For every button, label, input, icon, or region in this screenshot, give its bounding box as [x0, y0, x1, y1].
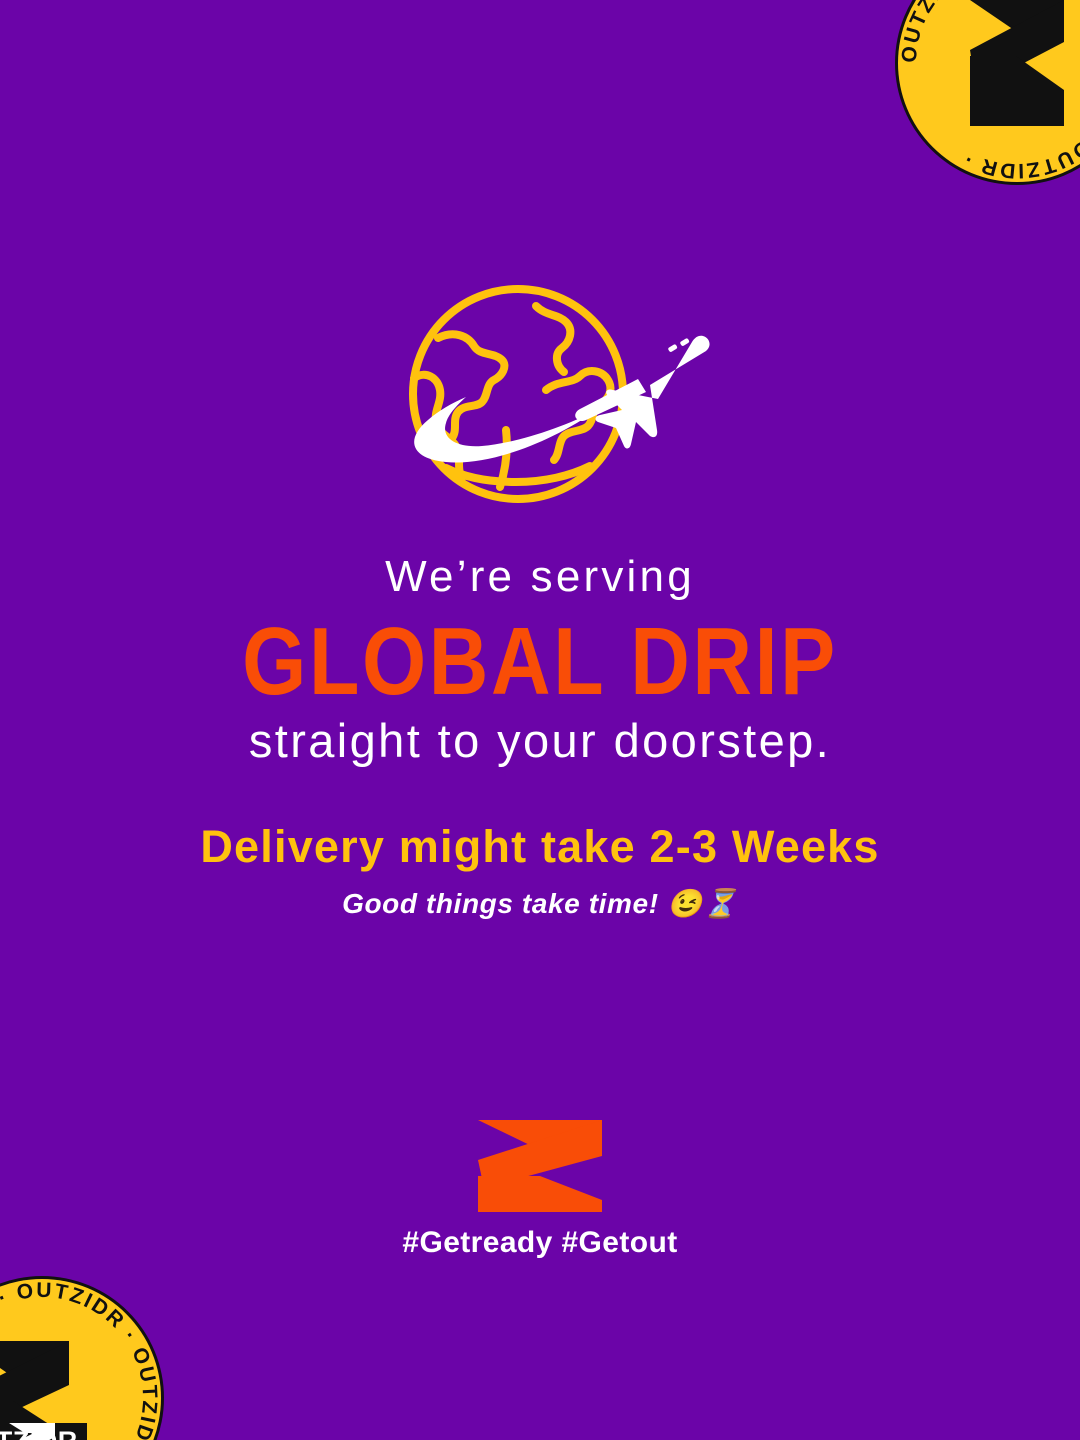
outzidr-badge-top-right: OUTZIDR · OUTZIDR · OUTZIDR · OUTZIDR ·: [892, 0, 1080, 188]
globe-airplane-icon: [350, 272, 730, 522]
headline-block: We’re serving GLOBAL DRIP straight to yo…: [0, 552, 1080, 768]
badge-wordmark: OUTZIDR: [0, 1426, 78, 1440]
outzidr-z-logo: [478, 1120, 602, 1212]
delivery-notice-block: Delivery might take 2-3 Weeks Good thing…: [0, 822, 1080, 920]
promo-poster: OUTZIDR · OUTZIDR · OUTZIDR · OUTZIDR · …: [0, 0, 1080, 1440]
badge-ring-text: OUTZIDR · OUTZIDR · OUTZIDR · OUTZIDR ·: [0, 1279, 161, 1440]
outzidr-badge-bottom-left: OUTZIDR · OUTZIDR · OUTZIDR · OUTZIDR · …: [0, 1273, 167, 1440]
badge-ring-text: OUTZIDR · OUTZIDR · OUTZIDR · OUTZIDR ·: [898, 0, 1080, 182]
eyebrow-text: We’re serving: [0, 552, 1080, 601]
page-title: GLOBAL DRIP: [76, 613, 1005, 711]
subhead-text: straight to your doorstep.: [0, 715, 1080, 768]
delivery-subtext: Good things take time! 😉⏳: [0, 887, 1080, 921]
hashtag-text: #Getready #Getout: [0, 1226, 1080, 1260]
badge-z-mark: [970, 0, 1064, 126]
footer-block: #Getready #Getout: [0, 1120, 1080, 1260]
delivery-headline: Delivery might take 2-3 Weeks: [0, 822, 1080, 872]
badge-z-mark: [0, 1341, 69, 1440]
airplane-icon: [575, 336, 709, 449]
